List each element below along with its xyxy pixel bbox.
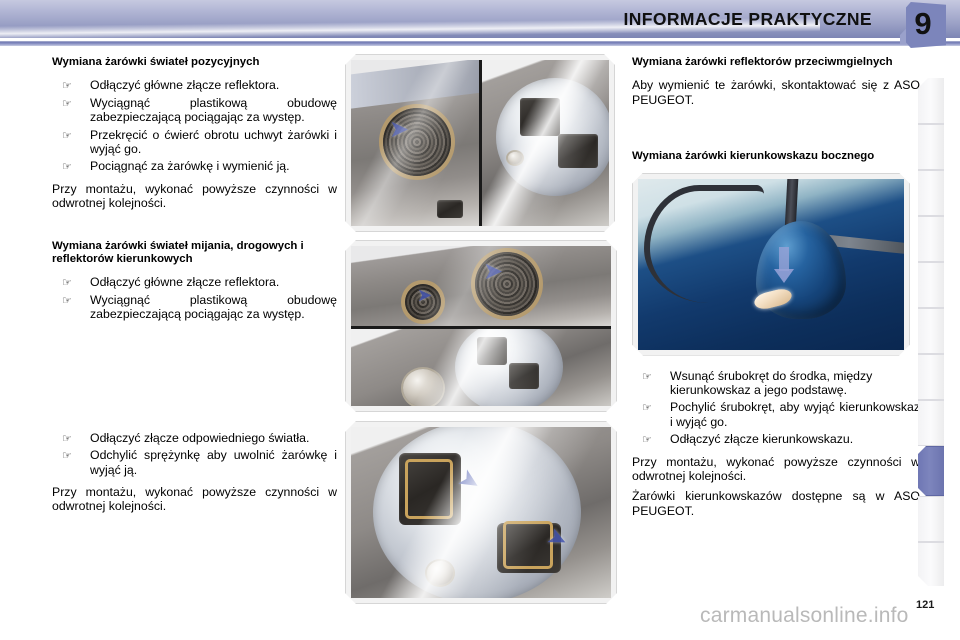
list-item-label: Odłączyć złącze odpowiedniego światła. xyxy=(90,431,309,445)
list-item: ☞Odłączyć złącze kierunkowskazu. xyxy=(632,432,920,446)
connector-tab xyxy=(437,200,463,218)
figure-dipped-main-beam-pair: ➤ ➤ xyxy=(345,240,617,412)
section-heading-fog-lamps: Wymiana żarówki reflektorów przeciwmgiel… xyxy=(632,56,920,69)
note-fog-lamps: Aby wymienić te żarówki, skontaktować si… xyxy=(632,78,920,107)
pointing-hand-icon: ☞ xyxy=(642,433,652,447)
note-position-lamps: Przy montażu, wykonać powyższe czynności… xyxy=(52,182,337,211)
chapter-tab-3[interactable] xyxy=(918,170,944,216)
pointing-hand-icon: ☞ xyxy=(62,276,72,290)
list-item-label: Odłączyć główne złącze reflektora. xyxy=(90,275,279,289)
arrow-icon: ➤ xyxy=(417,286,432,304)
page-title: INFORMACJE PRAKTYCZNE xyxy=(623,9,872,30)
pointing-hand-icon: ☞ xyxy=(62,432,72,446)
bulb-holder-upper xyxy=(520,98,560,136)
note-side-repeater-availability: Żarówki kierunkowskazów dostępne są w AS… xyxy=(632,489,920,518)
bulb-cap-screw xyxy=(403,369,443,406)
list-item: ☞Wyciągnąć plastikową obudowę zabezpiecz… xyxy=(52,96,337,125)
figure-1-right-pane xyxy=(482,60,609,226)
list-item: ☞Pociągnąć za żarówkę i wymienić ją. xyxy=(52,159,337,173)
steps-list-position-lamps: ☞Odłączyć główne złącze reflektora. ☞Wyc… xyxy=(52,78,337,173)
list-item-label: Odłączyć złącze kierunkowskazu. xyxy=(670,432,853,446)
list-item: ☞Wsunąć śrubokręt do środka, między kier… xyxy=(632,369,920,398)
chapter-tab-6[interactable] xyxy=(918,308,944,354)
list-item-label: Odchylić sprężynkę aby uwolnić żarówkę i… xyxy=(90,448,337,476)
pointing-hand-icon: ☞ xyxy=(62,129,72,143)
chapter-tab-2[interactable] xyxy=(918,124,944,170)
window-frame xyxy=(644,185,764,303)
figure-bulb-spring-clip: ➤ ➤ xyxy=(345,421,617,604)
page-body: Wymiana żarówki świateł pozycyjnych ☞Odł… xyxy=(0,46,960,640)
arrow-icon: ➤ xyxy=(483,260,503,284)
figure-2-bottom-pane xyxy=(351,329,611,406)
list-item: ☞Pochylić śrubokręt, aby wyjąć kierunkow… xyxy=(632,400,920,429)
pointing-hand-icon: ☞ xyxy=(62,79,72,93)
section-heading-side-repeater: Wymiana żarówki kierunkowskazu bocznego xyxy=(632,150,920,163)
list-item-label: Odłączyć główne złącze reflektora. xyxy=(90,78,279,92)
list-item: ☞Odłączyć główne złącze reflektora. xyxy=(52,275,337,289)
list-item-label: Wyciągnąć plastikową obudowę zabezpiecza… xyxy=(90,293,337,321)
chapter-tab-4[interactable] xyxy=(918,216,944,262)
list-item: ☞Odłączyć główne złącze reflektora. xyxy=(52,78,337,92)
chapter-tab-1[interactable] xyxy=(918,78,944,124)
pointing-hand-icon: ☞ xyxy=(62,449,72,463)
list-item-label: Przekręcić o ćwierć obrotu uchwyt żarówk… xyxy=(90,128,337,156)
section-heading-position-lamps: Wymiana żarówki świateł pozycyjnych xyxy=(52,56,337,69)
bulb-holder-lower xyxy=(509,363,539,389)
site-watermark: carmanualsonline.info xyxy=(700,604,909,628)
figure-2-image: ➤ ➤ xyxy=(351,246,611,406)
pointing-hand-icon: ☞ xyxy=(62,160,72,174)
list-item-label: Wsunąć śrubokręt do środka, między kieru… xyxy=(670,369,872,397)
chapter-tab-8[interactable] xyxy=(918,400,944,446)
figure-1-left-pane: ➤ xyxy=(351,60,479,226)
steps-list-side-repeater: ☞Wsunąć śrubokręt do środka, między kier… xyxy=(632,369,920,447)
pointing-hand-icon: ☞ xyxy=(62,294,72,308)
bulb-holder-lower xyxy=(558,134,598,168)
steps-list-bulb-release: ☞Odłączyć złącze odpowiedniego światła. … xyxy=(52,431,337,477)
chapter-tab-11[interactable] xyxy=(918,542,944,586)
pointing-hand-icon: ☞ xyxy=(642,370,652,384)
chapter-tab-10[interactable] xyxy=(918,496,944,542)
arrow-tip xyxy=(774,269,794,283)
figure-position-lamp-pair: ➤ xyxy=(345,54,615,232)
list-item: ☞Wyciągnąć plastikową obudowę zabezpiecz… xyxy=(52,293,337,322)
pointing-hand-icon: ☞ xyxy=(642,401,652,415)
page-number: 121 xyxy=(916,599,934,611)
figure-4-image xyxy=(638,179,904,350)
note-side-repeater-refit: Przy montażu, wykonać powyższe czynności… xyxy=(632,455,920,484)
list-item: ☞Przekręcić o ćwierć obrotu uchwyt żarów… xyxy=(52,128,337,157)
list-item-label: Pochylić śrubokręt, aby wyjąć kierunkows… xyxy=(670,400,920,428)
note-bulb-release: Przy montażu, wykonać powyższe czynności… xyxy=(52,485,337,514)
bulb-holder-upper xyxy=(477,337,507,365)
chapter-number: 9 xyxy=(900,6,946,42)
list-item-label: Wyciągnąć plastikową obudowę zabezpiecza… xyxy=(90,96,337,124)
list-item: ☞Odłączyć złącze odpowiedniego światła. xyxy=(52,431,337,445)
chapter-tab-7[interactable] xyxy=(918,354,944,400)
pointing-hand-icon: ☞ xyxy=(62,97,72,111)
left-text-column: Wymiana żarówki świateł pozycyjnych ☞Odł… xyxy=(52,56,337,520)
spring-clip-upper xyxy=(405,459,453,519)
chapter-tab-strip xyxy=(918,78,944,586)
right-text-column: Wymiana żarówki reflektorów przeciwmgiel… xyxy=(632,56,920,524)
steps-list-dipped-main-beam: ☞Odłączyć główne złącze reflektora. ☞Wyc… xyxy=(52,275,337,321)
adjuster-screw xyxy=(427,561,453,585)
figure-1-image: ➤ xyxy=(351,60,609,226)
section-heading-dipped-main-beam: Wymiana żarówki świateł mijania, drogowy… xyxy=(52,240,337,267)
figure-2-top-pane: ➤ ➤ xyxy=(351,246,611,326)
figure-side-repeater-mirror xyxy=(632,173,910,356)
list-item: ☞Odchylić sprężynkę aby uwolnić żarówkę … xyxy=(52,448,337,477)
list-item-label: Pociągnąć za żarówkę i wymienić ją. xyxy=(90,159,290,173)
arrow-icon: ➤ xyxy=(389,118,409,142)
chapter-tab-9-active[interactable] xyxy=(918,446,944,496)
arrow-stem xyxy=(779,247,789,271)
figure-column: ➤ xyxy=(345,54,617,604)
figure-3-image: ➤ ➤ xyxy=(351,427,611,598)
chapter-badge: 9 xyxy=(900,0,946,50)
chapter-tab-5[interactable] xyxy=(918,262,944,308)
brass-pin xyxy=(508,152,522,164)
